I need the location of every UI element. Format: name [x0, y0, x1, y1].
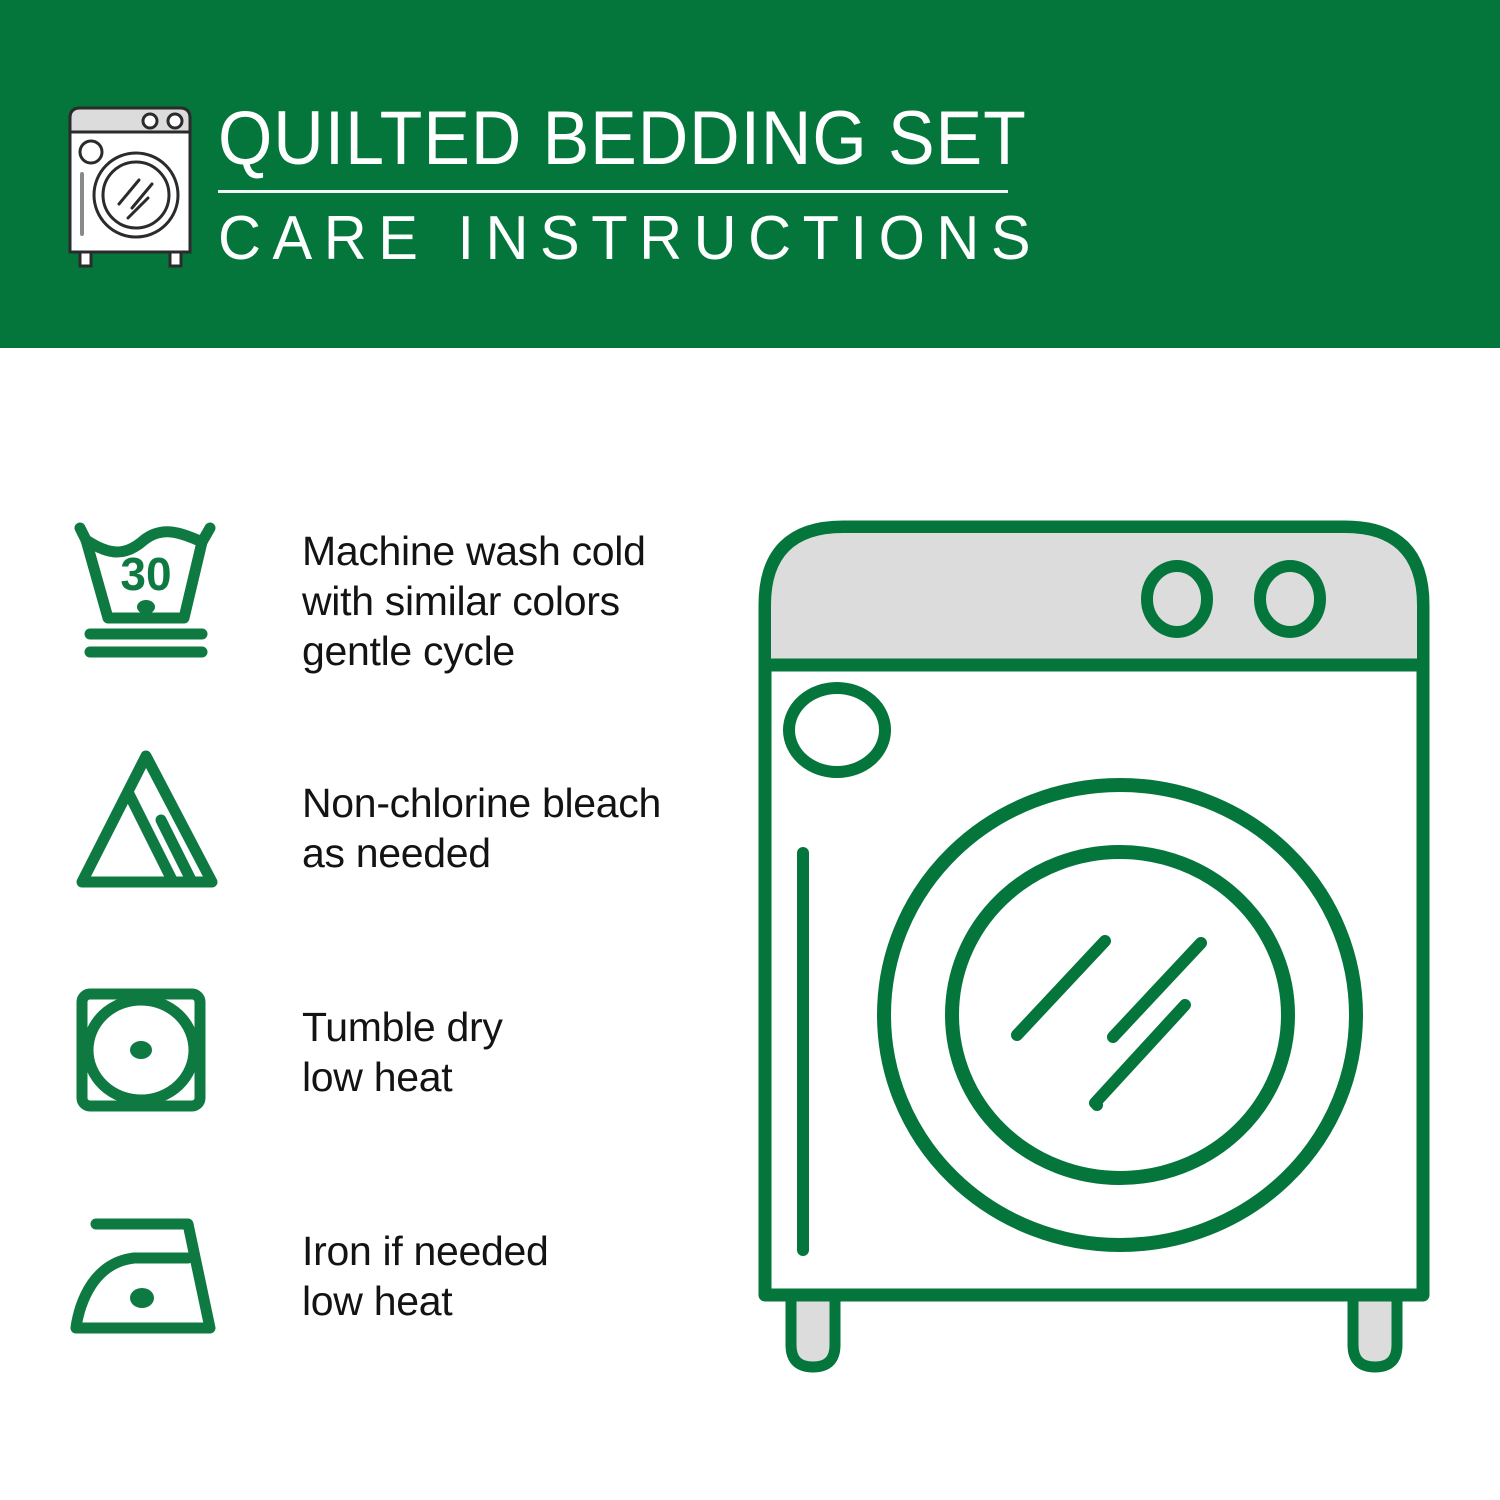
tumble-dry-low-heat-icon — [68, 972, 246, 1132]
care-text-bleach: Non-chlorine bleach as needed — [246, 742, 661, 878]
knob-left — [1147, 566, 1207, 632]
care-row-iron: Iron if needed low heat — [68, 1202, 708, 1432]
care-text-tumble-dry: Tumble dry low heat — [246, 972, 503, 1102]
care-row-machine-wash: 30 Machine wash cold with similar colors… — [68, 512, 708, 742]
care-row-bleach: Non-chlorine bleach as needed — [68, 742, 708, 972]
care-instructions-infographic: QUILTED BEDDING SET CARE INSTRUCTIONS 30 — [0, 0, 1500, 1500]
page-title: QUILTED BEDDING SET — [218, 96, 972, 182]
page-subtitle: CARE INSTRUCTIONS — [218, 203, 1005, 275]
care-row-tumble-dry: Tumble dry low heat — [68, 972, 708, 1202]
title-divider — [218, 190, 1008, 193]
header-banner: QUILTED BEDDING SET CARE INSTRUCTIONS — [0, 0, 1500, 348]
knob-right — [1260, 566, 1320, 632]
detergent-dispenser-circle — [789, 688, 885, 772]
header-text-block: QUILTED BEDDING SET CARE INSTRUCTIONS — [218, 96, 1038, 275]
wash-temperature-label: 30 — [120, 548, 171, 600]
front-load-washing-machine-illustration — [745, 505, 1455, 1415]
non-chlorine-bleach-triangle-icon — [68, 742, 246, 902]
iron-low-heat-icon — [68, 1202, 246, 1362]
washing-machine-icon — [62, 104, 210, 272]
care-instruction-list: 30 Machine wash cold with similar colors… — [68, 512, 708, 1432]
wash-tub-30-gentle-icon: 30 — [68, 512, 246, 672]
care-text-iron: Iron if needed low heat — [246, 1202, 549, 1326]
care-text-machine-wash: Machine wash cold with similar colors ge… — [246, 512, 646, 676]
